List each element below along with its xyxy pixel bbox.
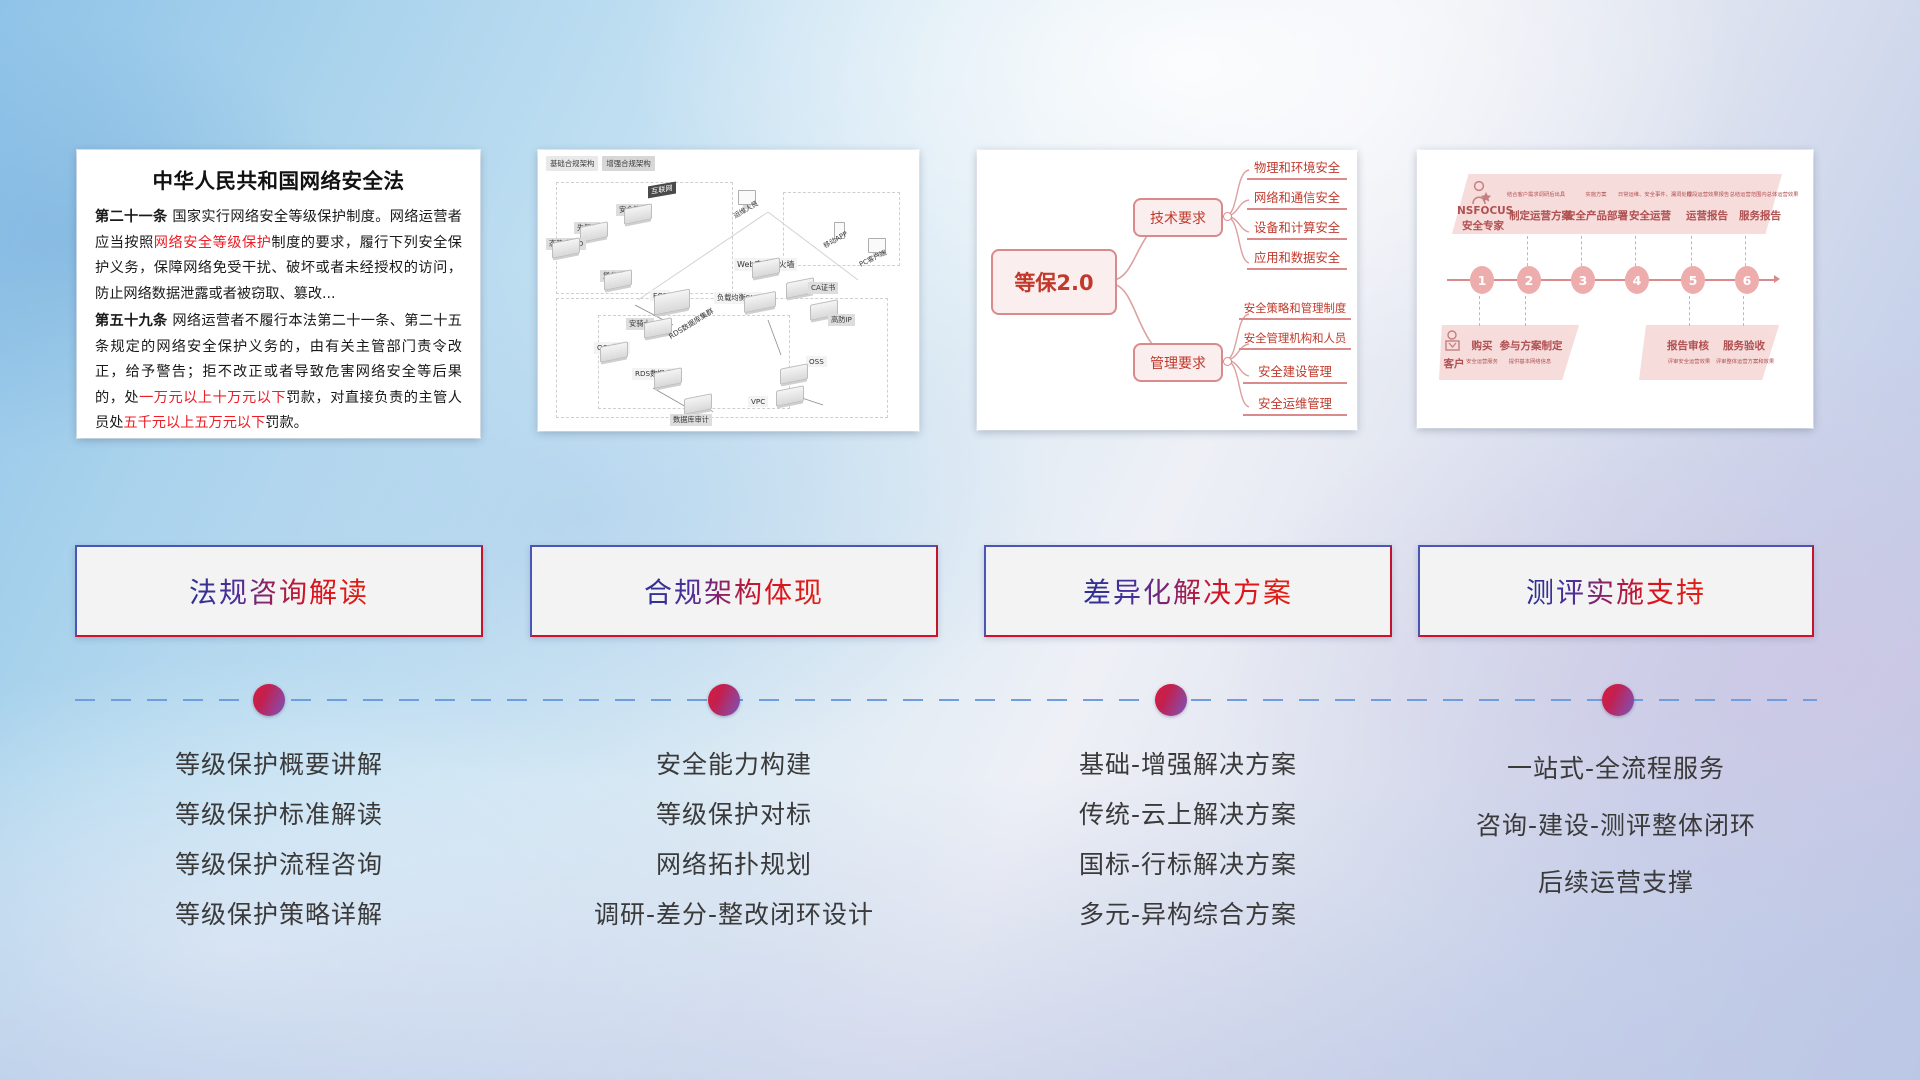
mindmap-leaf[interactable]: 物理和环境安全 [1247,158,1347,180]
top-step-desc: 总结运营范围内总体运营效果 [1727,190,1801,198]
node-waf: Web应用防火墙 [734,258,780,276]
law-paragraph-21: 第二十一条 国家实行网络安全等级保护制度。网络运营者应当按照网络安全等级保护制度… [95,205,462,307]
law-article-59-text-c: 罚款。 [265,415,308,431]
mindmap-leaf[interactable]: 安全运维管理 [1243,394,1347,416]
detail-lists-row: 等级保护概要讲解 等级保护标准解读 等级保护流程咨询 等级保护策略详解 安全能力… [0,740,1920,1040]
process-step-node[interactable]: 1 [1470,266,1494,294]
step-stem [1745,236,1746,266]
process-step-node[interactable]: 4 [1625,266,1649,294]
timeline-dashed-line [75,699,1817,701]
node-rds: RDS数据库 [632,368,682,386]
bottom-step-title: 服务验收 [1719,338,1769,353]
list-item: 等级保护流程咨询 [75,840,483,890]
list-item: 后续运营支撑 [1418,854,1814,911]
node-oss: OSS [780,358,808,382]
expert-role: 安全专家 [1457,218,1509,233]
card-mindmap-dengbao[interactable]: 等保2.0 技术要求 管理要求 物理和环境安全 网络和通信安全 设备和计算安全 … [977,150,1357,430]
category-button-assessment-support[interactable]: 测评实施支持 [1418,545,1814,637]
node-vpc: VPC [754,388,804,404]
list-item: 等级保护概要讲解 [75,740,483,790]
bottom-step-title: 报告审核 [1663,338,1713,353]
cards-row: 中华人民共和国网络安全法 第二十一条 国家实行网络安全等级保护制度。网络运营者应… [0,150,1920,445]
timeline-dot[interactable] [1602,684,1634,716]
mindmap-branch-management[interactable]: 管理要求 [1133,343,1223,382]
step-stem [1479,296,1480,326]
card-nsfocus-process[interactable]: NSFOCUS 安全专家 结合客户需求调研后出具 制定运营方案 实施方案 安全产… [1417,150,1813,428]
top-step-title: 运营报告 [1682,208,1732,223]
category-button-label: 差异化解决方案 [1083,571,1293,611]
top-step-desc: 实施方案 [1573,190,1619,198]
mindmap-leaf[interactable]: 安全建设管理 [1243,362,1347,384]
top-step-desc: 结合客户需求调研后出具 [1502,190,1570,198]
bottom-step-title: 参与方案制定 [1499,338,1563,353]
mindmap-leaf[interactable]: 安全管理机构和人员 [1239,330,1351,350]
node-anti-ddos-ip: 高防IP [810,302,838,318]
list-item: 国标-行标解决方案 [984,840,1392,890]
expert-name: NSFOCUS [1457,205,1509,217]
top-step-title: 安全运营 [1625,208,1675,223]
list-item: 一站式-全流程服务 [1418,740,1814,797]
list-item: 调研-差分-整改闭环设计 [530,890,938,940]
node-ca: CA证书 [786,280,814,296]
list-item: 等级保护标准解读 [75,790,483,840]
list-item: 网络拓扑规划 [530,840,938,890]
mindmap-leaf[interactable]: 设备和计算安全 [1247,218,1347,240]
category-buttons-row: 法规咨询解读 合规架构体现 差异化解决方案 测评实施支持 [0,545,1920,643]
process-axis [1447,279,1777,281]
bottom-step-desc: 评审整体运营方案和效果 [1713,357,1777,365]
node-ecs: ECS [650,290,690,312]
category-button-label: 法规咨询解读 [189,571,369,611]
step-stem [1527,236,1528,266]
list-item: 多元-异构综合方案 [984,890,1392,940]
category-button-label: 合规架构体现 [644,571,824,611]
bottom-step-desc: 安全运营服务 [1461,357,1503,365]
step-stem [1689,296,1690,326]
node-db-audit: 数据库审计 [670,396,712,412]
category-button-regulation-consulting[interactable]: 法规咨询解读 [75,545,483,637]
list-item: 等级保护对标 [530,790,938,840]
node-sensing-b: 态势感知D [546,238,580,256]
node-ocs-cache: OCS缓存 [594,342,628,360]
detail-list-compliance-architecture: 安全能力构建 等级保护对标 网络拓扑规划 调研-差分-整改闭环设计 [530,740,938,940]
timeline [0,675,1920,725]
process-step-node[interactable]: 5 [1681,266,1705,294]
mindmap-leaf[interactable]: 网络和通信安全 [1247,188,1347,210]
category-button-compliance-architecture[interactable]: 合规架构体现 [530,545,938,637]
law-article-21-label: 第二十一条 [95,209,168,225]
list-item: 等级保护策略详解 [75,890,483,940]
mindmap-branch-technical[interactable]: 技术要求 [1133,198,1223,237]
step-stem [1635,236,1636,266]
step-stem [1525,296,1526,326]
mindmap-leaf[interactable]: 安全策略和管理制度 [1239,300,1351,320]
mindmap-collapse-icon-mgmt[interactable] [1223,357,1232,366]
law-article-59-highlight-1: 一万元以上十万元以下 [139,390,286,406]
node-bastion: 堡垒机 [600,270,632,288]
law-title: 中华人民共和国网络安全法 [95,164,462,194]
list-item: 安全能力构建 [530,740,938,790]
top-step-title: 安全产品部署 [1565,208,1627,223]
detail-list-assessment-support: 一站式-全流程服务 咨询-建设-测评整体闭环 后续运营支撑 [1418,740,1814,911]
list-item: 基础-增强解决方案 [984,740,1392,790]
bottom-step-desc: 评审安全运营效果 [1661,357,1717,365]
category-button-differentiated-solution[interactable]: 差异化解决方案 [984,545,1392,637]
timeline-dot[interactable] [708,684,740,716]
step-stem [1743,296,1744,326]
process-axis-arrow-icon [1774,275,1780,283]
process-step-node[interactable]: 6 [1735,266,1759,294]
architecture-connectors [538,150,919,431]
law-paragraph-59: 第五十九条 网络运营者不履行本法第二十一条、第二十五条规定的网络安全保护义务的，… [95,309,462,437]
list-item: 传统-云上解决方案 [984,790,1392,840]
customer-person-icon [1443,330,1463,358]
bottom-step-desc: 提供基本网络信息 [1501,357,1559,365]
law-article-59-label: 第五十九条 [95,313,168,329]
category-button-label: 测评实施支持 [1526,571,1706,611]
timeline-dot[interactable] [1155,684,1187,716]
mindmap-collapse-icon-tech[interactable] [1223,212,1232,221]
law-article-59-highlight-2: 五千元以上五万元以下 [123,415,265,431]
list-item: 咨询-建设-测评整体闭环 [1418,797,1814,854]
law-article-21-highlight: 网络安全等级保护 [154,235,272,251]
top-step-title: 服务报告 [1735,208,1785,223]
process-step-node[interactable]: 2 [1517,266,1541,294]
bottom-step-title: 购买 [1465,338,1499,353]
node-security-manager: 安全管家 [616,204,652,222]
process-step-node[interactable]: 3 [1571,266,1595,294]
top-step-title: 制定运营方案 [1509,208,1571,223]
detail-list-regulation-consulting: 等级保护概要讲解 等级保护标准解读 等级保护流程咨询 等级保护策略详解 [75,740,483,940]
card-cloud-architecture[interactable]: 基础合规架构 增强合规架构 互联网 [538,150,919,431]
detail-list-differentiated-solution: 基础-增强解决方案 传统-云上解决方案 国标-行标解决方案 多元-异构综合方案 [984,740,1392,940]
mindmap-leaf[interactable]: 应用和数据安全 [1247,248,1347,270]
node-slb: 负载均衡SLB [714,292,776,310]
timeline-dot[interactable] [253,684,285,716]
mindmap-root[interactable]: 等保2.0 [991,249,1117,315]
card-cybersecurity-law[interactable]: 中华人民共和国网络安全法 第二十一条 国家实行网络安全等级保护制度。网络运营者应… [77,150,480,438]
step-stem [1691,236,1692,266]
step-stem [1581,236,1582,266]
